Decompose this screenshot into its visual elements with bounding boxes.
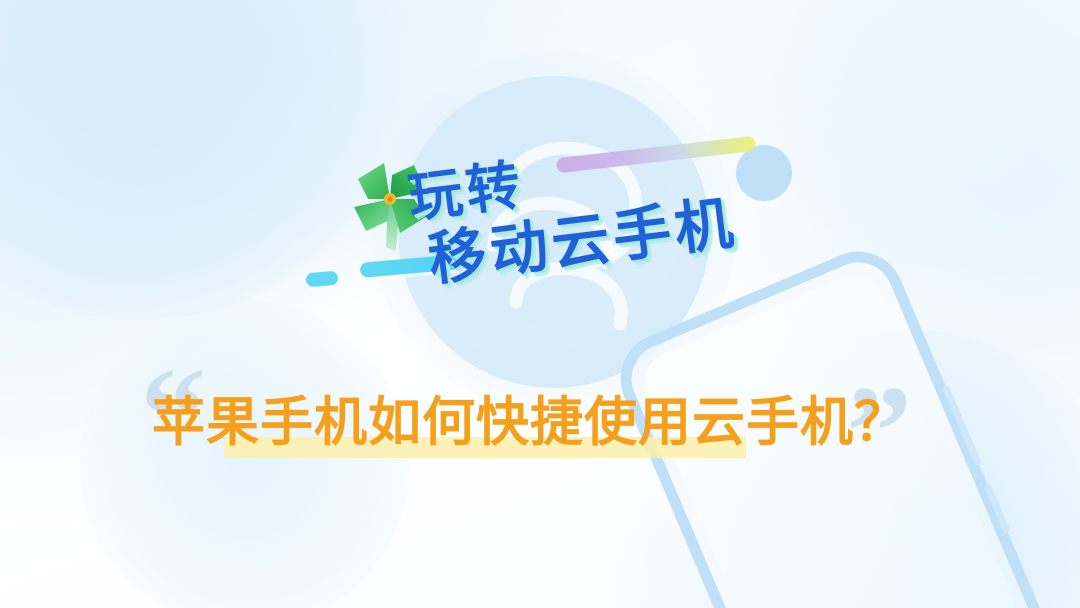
subtitle-block: 苹果手机如何快捷使用云手机？ [0,388,1080,468]
pinwheel-icon [344,155,440,259]
accent-dot-circle [736,145,792,201]
promo-banner: 玩转 移动云手机 “ ” 苹果手机如何快捷使用云手机？ [0,0,1080,608]
subtitle-text: 苹果手机如何快捷使用云手机？ [152,388,908,458]
